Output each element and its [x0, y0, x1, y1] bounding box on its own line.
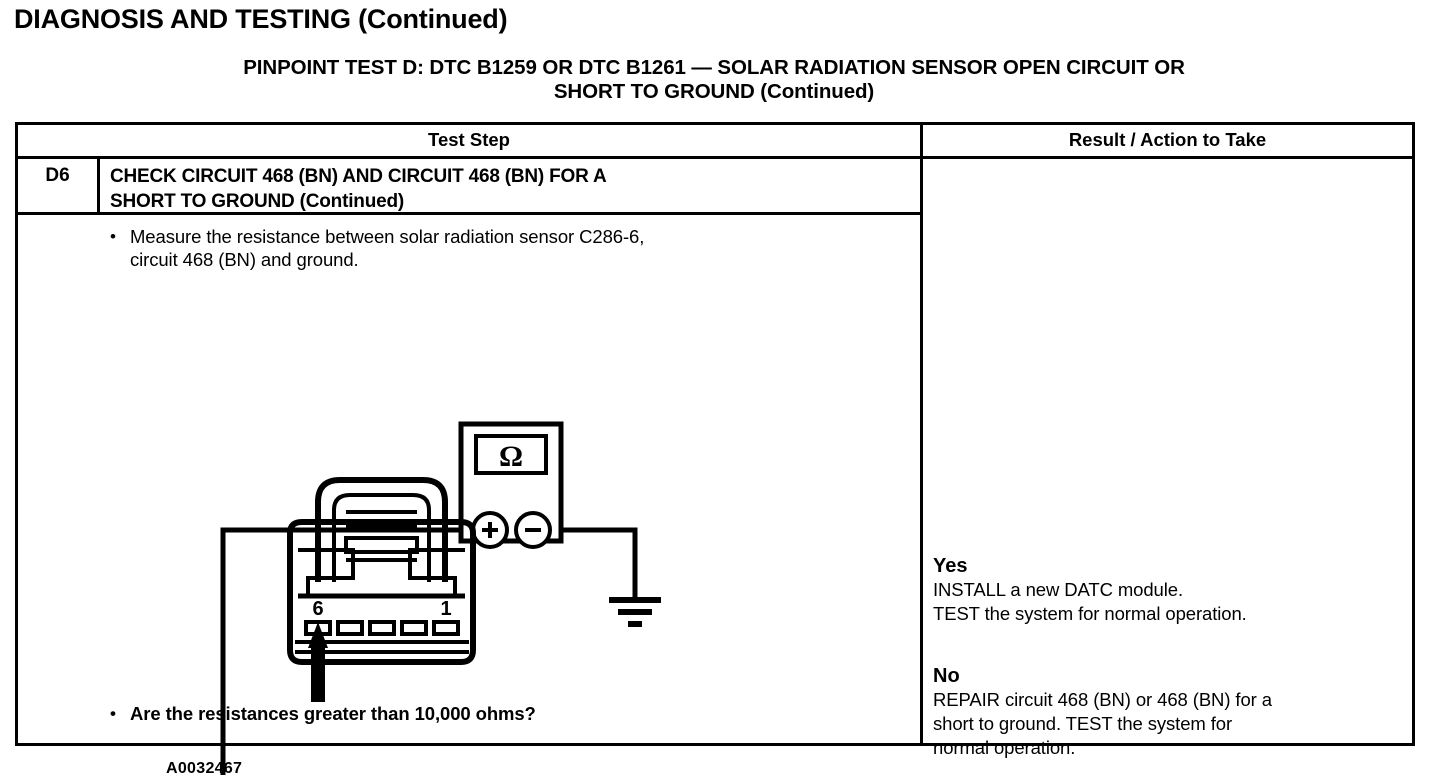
step-question: • Are the resistances greater than 10,00… — [104, 702, 904, 725]
result-no-line2: short to ground. TEST the system for — [933, 712, 1411, 736]
step-id-cell: D6 — [18, 159, 100, 212]
step-body: • Measure the resistance between solar r… — [18, 215, 920, 743]
step-title-line1: CHECK CIRCUIT 468 (BN) AND CIRCUIT 468 (… — [110, 164, 910, 189]
result-action-body: Yes INSTALL a new DATC module. TEST the … — [923, 159, 1412, 743]
result-yes-line2: TEST the system for normal operation. — [933, 602, 1411, 626]
measure-instruction-line2: circuit 468 (BN) and ground. — [130, 249, 359, 270]
column-header-test-step: Test Step — [18, 129, 920, 151]
connector-pin-label-6: 6 — [312, 598, 323, 620]
measure-instruction-line1: Measure the resistance between solar rad… — [130, 226, 644, 247]
page-title: DIAGNOSIS AND TESTING (Continued) — [14, 4, 507, 35]
bullet-icon: • — [104, 702, 130, 725]
step-header-band: D6 CHECK CIRCUIT 468 (BN) AND CIRCUIT 46… — [18, 159, 920, 215]
table-header-row: Test Step Result / Action to Take — [18, 125, 1412, 159]
result-yes-block: Yes INSTALL a new DATC module. TEST the … — [933, 554, 1411, 626]
result-yes-line1: INSTALL a new DATC module. — [933, 578, 1411, 602]
step-title-line2: SHORT TO GROUND (Continued) — [110, 189, 910, 214]
bullet-icon: • — [104, 225, 130, 248]
pinpoint-test-title-line2: SHORT TO GROUND (Continued) — [14, 80, 1414, 104]
result-no-line1: REPAIR circuit 468 (BN) or 468 (BN) for … — [933, 688, 1411, 712]
measure-instruction: • Measure the resistance between solar r… — [104, 225, 904, 271]
step-question-text: Are the resistances greater than 10,000 … — [130, 702, 536, 725]
step-title: CHECK CIRCUIT 468 (BN) AND CIRCUIT 468 (… — [110, 164, 910, 214]
pinpoint-test-title: PINPOINT TEST D: DTC B1259 OR DTC B1261 … — [14, 56, 1414, 104]
ground-symbol-icon — [609, 600, 661, 624]
figure-id: A0032467 — [166, 760, 242, 778]
pinpoint-test-title-line1: PINPOINT TEST D: DTC B1259 OR DTC B1261 … — [14, 56, 1414, 80]
pinpoint-test-table: Test Step Result / Action to Take D6 CHE… — [15, 122, 1415, 746]
measure-instruction-text: Measure the resistance between solar rad… — [130, 225, 644, 271]
step-id: D6 — [45, 165, 69, 187]
connector-pin-label-1: 1 — [440, 598, 451, 620]
result-no-line3: normal operation. — [933, 736, 1411, 760]
connector-icon: 6 1 — [290, 480, 473, 702]
result-yes-label: Yes — [933, 554, 1411, 578]
ohm-symbol: Ω — [499, 440, 523, 473]
ground-lead-wire — [558, 530, 635, 600]
result-no-label: No — [933, 664, 1411, 688]
result-no-block: No REPAIR circuit 468 (BN) or 468 (BN) f… — [933, 664, 1411, 760]
multimeter-icon: Ω — [461, 424, 561, 547]
column-header-result-action: Result / Action to Take — [923, 129, 1412, 151]
